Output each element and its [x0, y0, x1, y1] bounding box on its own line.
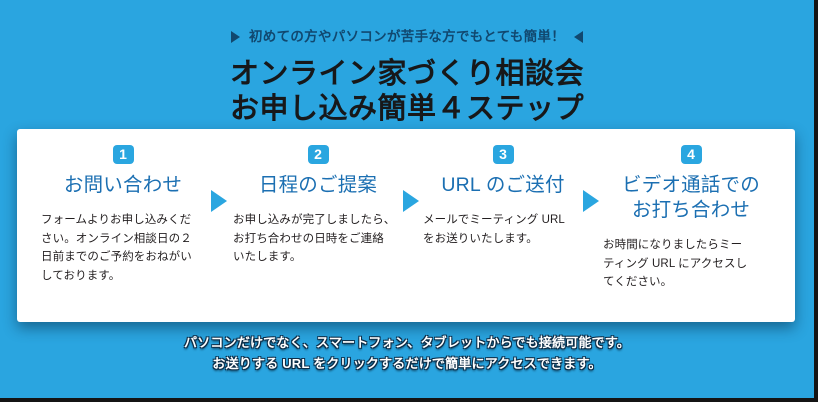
- step-item-2: 2 日程のご提案 お申し込みが完了しましたら、 お打ち合わせの日時をご連絡 いた…: [223, 145, 413, 312]
- step-number-badge-3: 3: [493, 145, 514, 164]
- step-description-1: フォームよりお申し込みくだ さい。オンライン相談日の２ 日前までのご予約をおねが…: [33, 211, 213, 286]
- step-description-line: さい。オンライン相談日の２: [41, 230, 213, 249]
- footer-line-1: パソコンだけでなく、スマートフォン、タブレットからでも接続可能です。: [0, 332, 814, 353]
- steps-card: 1 お問い合わせ フォームよりお申し込みくだ さい。オンライン相談日の２ 日前ま…: [17, 129, 795, 322]
- step-description-line: メールでミーティング URL: [423, 211, 583, 230]
- step-description-4: お時間になりましたらミー ティング URL にアクセスし てください。: [603, 236, 779, 292]
- step-description-line: お打ち合わせの日時をご連絡: [233, 230, 403, 249]
- footer-line-2: お送りする URL をクリックするだけで簡単にアクセスできます。: [0, 353, 814, 374]
- poster-header: 初めての方やパソコンが苦手な方でもとても簡単！ オンライン家づくり相談会 お申し…: [0, 0, 814, 127]
- step-number-badge-1: 1: [113, 145, 134, 164]
- step-item-4: 4 ビデオ通話での お打ち合わせ お時間になりましたらミー ティング URL に…: [593, 145, 789, 312]
- step-heading-line-2: お打ち合わせ: [603, 198, 779, 223]
- step-description-line: ティング URL にアクセスし: [603, 255, 779, 274]
- step-heading-line-1: お問い合わせ: [64, 174, 182, 196]
- triangle-left-icon: [574, 31, 583, 43]
- step-description-line: お申し込みが完了しましたら、: [233, 211, 403, 230]
- step-description-line: 日前までのご予約をおねがい: [41, 248, 213, 267]
- kicker-banner: 初めての方やパソコンが苦手な方でもとても簡単！: [0, 30, 814, 44]
- step-description-line: いたします。: [233, 248, 403, 267]
- step-description-line: てください。: [603, 273, 779, 292]
- page-title: オンライン家づくり相談会 お申し込み簡単４ステップ: [0, 57, 814, 128]
- step-description-line: フォームよりお申し込みくだ: [41, 211, 213, 230]
- step-description-2: お申し込みが完了しましたら、 お打ち合わせの日時をご連絡 いたします。: [233, 211, 403, 267]
- step-heading-4: ビデオ通話での お打ち合わせ: [603, 173, 779, 223]
- triangle-right-icon: [231, 31, 240, 43]
- step-description-line: しております。: [41, 267, 213, 286]
- title-line-2: お申し込み簡単４ステップ: [0, 92, 814, 127]
- step-number-badge-2: 2: [308, 145, 329, 164]
- step-heading-2: 日程のご提案: [233, 173, 403, 198]
- kicker-text: 初めての方やパソコンが苦手な方でもとても簡単！: [249, 30, 565, 44]
- step-heading-line-1: URL のご送付: [441, 174, 564, 196]
- promotional-poster: 初めての方やパソコンが苦手な方でもとても簡単！ オンライン家づくり相談会 お申し…: [0, 0, 818, 402]
- step-number-badge-4: 4: [681, 145, 702, 164]
- step-heading-line-1: 日程のご提案: [259, 174, 377, 196]
- step-item-1: 1 お問い合わせ フォームよりお申し込みくだ さい。オンライン相談日の２ 日前ま…: [23, 145, 223, 312]
- step-description-3: メールでミーティング URL をお送りいたします。: [423, 211, 583, 248]
- step-description-line: お時間になりましたらミー: [603, 236, 779, 255]
- poster-footer: パソコンだけでなく、スマートフォン、タブレットからでも接続可能です。 お送りする…: [0, 332, 814, 374]
- step-description-line: をお送りいたします。: [423, 230, 583, 249]
- title-line-1: オンライン家づくり相談会: [0, 57, 814, 92]
- step-heading-3: URL のご送付: [423, 173, 583, 198]
- step-item-3: 3 URL のご送付 メールでミーティング URL をお送りいたします。: [413, 145, 593, 312]
- step-heading-line-1: ビデオ通話での: [603, 173, 779, 198]
- steps-list: 1 お問い合わせ フォームよりお申し込みくだ さい。オンライン相談日の２ 日前ま…: [17, 129, 795, 322]
- step-heading-1: お問い合わせ: [33, 173, 213, 198]
